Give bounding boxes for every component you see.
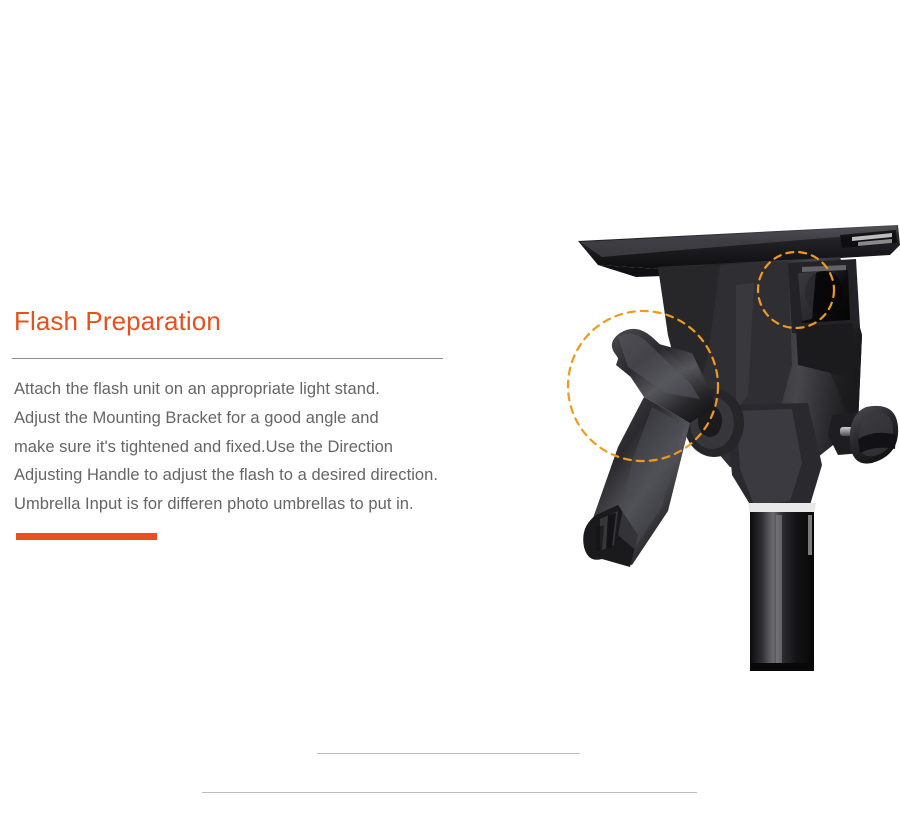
light-stand-pole: [748, 503, 816, 671]
section-body-text: Attach the flash unit on an appropriate …: [12, 375, 472, 519]
accent-underline-bar: [16, 533, 157, 540]
flash-preparation-page: Flash Preparation Attach the flash unit …: [0, 0, 900, 828]
page-title: Flash Preparation: [12, 305, 472, 337]
tightening-knob: [828, 406, 898, 464]
footer-hairline-lower: [202, 792, 697, 793]
text-block: Flash Preparation Attach the flash unit …: [12, 305, 472, 519]
title-divider: [12, 358, 443, 359]
footer-hairline-upper: [317, 753, 580, 754]
product-photo: [540, 215, 900, 685]
